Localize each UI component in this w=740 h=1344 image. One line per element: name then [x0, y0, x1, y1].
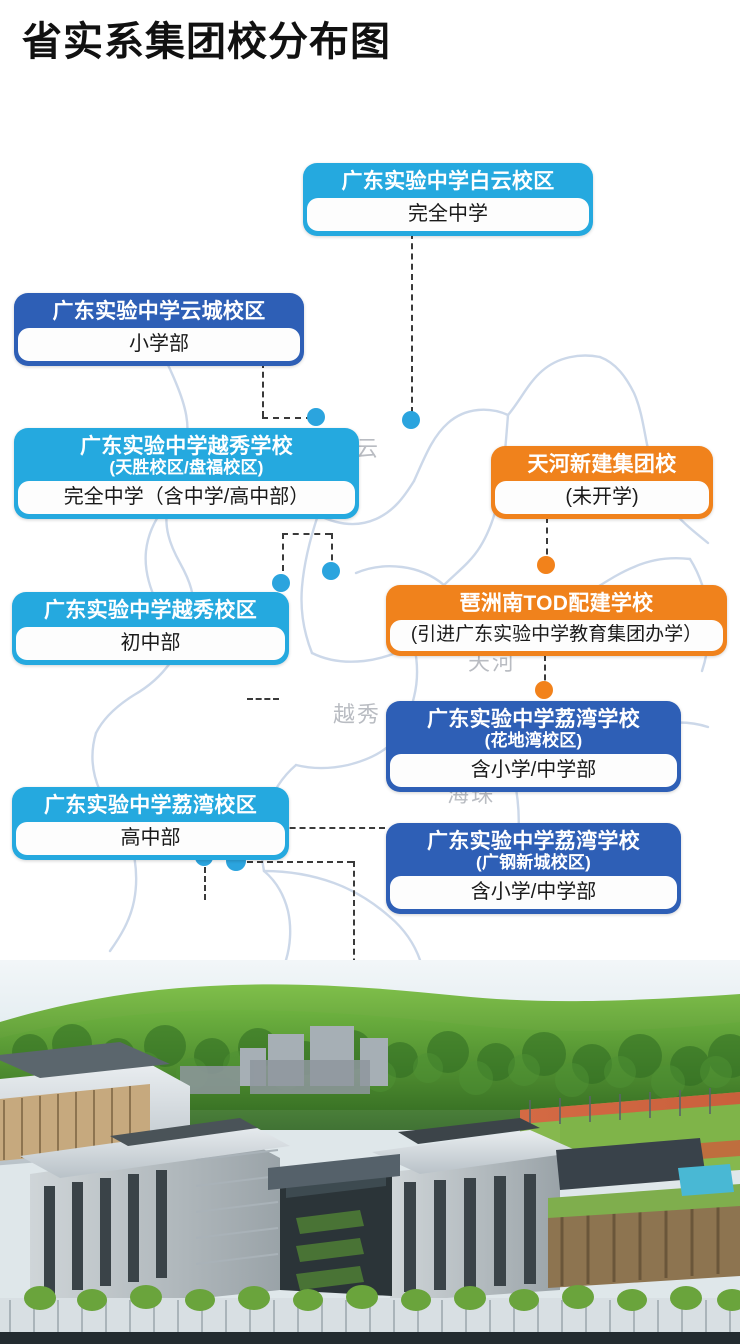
callout-card-liwan-campus[interactable]: 广东实验中学荔湾校区 高中部: [12, 787, 289, 860]
map-marker-yuexiu-campus[interactable]: [272, 574, 290, 592]
callout-card-yuncheng[interactable]: 广东实验中学云城校区 小学部: [14, 293, 304, 366]
callout-title-yuexiu-school: 广东实验中学越秀学校: [28, 435, 345, 459]
callout-detail-pazhou: (引进广东实验中学教育集团办学）: [390, 620, 723, 652]
callout-title-liwan-campus: 广东实验中学荔湾校区: [26, 794, 275, 818]
map-marker-yuncheng[interactable]: [307, 408, 325, 426]
callout-detail-gangang: 含小学/中学部: [390, 876, 677, 909]
callout-card-gangang[interactable]: 广东实验中学荔湾学校 (广钢新城校区) 含小学/中学部: [386, 823, 681, 914]
callout-head-tianhe: 天河新建集团校: [495, 450, 709, 481]
callout-head-pazhou: 琶洲南TOD配建学校: [390, 589, 723, 620]
callout-subtitle-yuexiu-school: (天胜校区/盘福校区): [28, 458, 345, 477]
leader-line-yuexiu-school-horizontal: [282, 533, 331, 535]
callout-head-huadiwan: 广东实验中学荔湾学校 (花地湾校区): [390, 705, 677, 754]
callout-detail-baiyun: 完全中学: [307, 198, 589, 231]
callout-head-yuexiu-campus: 广东实验中学越秀校区: [16, 596, 285, 627]
map-area: 白云 天河 越秀 海珠 荔湾: [0, 115, 740, 960]
callout-detail-yuncheng: 小学部: [18, 328, 300, 361]
callout-detail-huadiwan: 含小学/中学部: [390, 754, 677, 787]
callout-head-baiyun: 广东实验中学白云校区: [307, 167, 589, 198]
callout-detail-liwan-campus: 高中部: [16, 822, 285, 855]
callout-card-yuexiu-school[interactable]: 广东实验中学越秀学校 (天胜校区/盘福校区) 完全中学（含中学/高中部）: [14, 428, 359, 519]
callout-title-huadiwan: 广东实验中学荔湾学校: [400, 708, 667, 732]
page-title: 省实系集团校分布图: [22, 18, 391, 66]
callout-head-yuexiu-school: 广东实验中学越秀学校 (天胜校区/盘福校区): [18, 432, 355, 481]
callout-card-yuexiu-campus[interactable]: 广东实验中学越秀校区 初中部: [12, 592, 289, 665]
callout-title-pazhou: 琶洲南TOD配建学校: [400, 592, 713, 616]
infographic-root: 省实系集团校分布图: [0, 0, 740, 1344]
leader-line-gangang-v: [353, 861, 355, 960]
callout-detail-yuexiu-campus: 初中部: [16, 627, 285, 660]
callout-title-tianhe: 天河新建集团校: [505, 453, 699, 477]
leader-line-yuexiu-school-vertical: [282, 533, 284, 571]
callout-title-yuncheng: 广东实验中学云城校区: [28, 300, 290, 324]
callout-head-gangang: 广东实验中学荔湾学校 (广钢新城校区): [390, 827, 677, 876]
callout-card-tianhe[interactable]: 天河新建集团校 (未开学): [491, 446, 713, 519]
leader-line-yuexiu-campus: [247, 698, 279, 700]
map-marker-baiyun[interactable]: [402, 411, 420, 429]
callout-head-yuncheng: 广东实验中学云城校区: [18, 297, 300, 328]
callout-card-huadiwan[interactable]: 广东实验中学荔湾学校 (花地湾校区) 含小学/中学部: [386, 701, 681, 792]
callout-subtitle-huadiwan: (花地湾校区): [400, 731, 667, 750]
leader-line-gangang-h1: [247, 861, 353, 863]
callout-detail-yuexiu-school: 完全中学（含中学/高中部）: [18, 481, 355, 514]
campus-aerial-photo: [0, 960, 740, 1344]
callout-card-baiyun[interactable]: 广东实验中学白云校区 完全中学: [303, 163, 593, 236]
callout-title-baiyun: 广东实验中学白云校区: [317, 170, 579, 194]
callout-title-gangang: 广东实验中学荔湾学校: [400, 830, 667, 854]
map-marker-tianhe[interactable]: [537, 556, 555, 574]
callout-card-pazhou[interactable]: 琶洲南TOD配建学校 (引进广东实验中学教育集团办学）: [386, 585, 727, 656]
leader-line-baiyun: [411, 233, 413, 413]
callout-head-liwan-campus: 广东实验中学荔湾校区: [16, 791, 285, 822]
callout-subtitle-gangang: (广钢新城校区): [400, 853, 667, 872]
map-marker-pazhou[interactable]: [535, 681, 553, 699]
leader-line-yuncheng-vertical: [262, 362, 264, 417]
district-label-yuexiu: 越秀: [333, 697, 381, 729]
callout-detail-tianhe: (未开学): [495, 481, 709, 514]
map-marker-yuexiu-school[interactable]: [322, 562, 340, 580]
leader-line-yuncheng-horizontal: [262, 417, 312, 419]
callout-title-yuexiu-campus: 广东实验中学越秀校区: [26, 599, 275, 623]
leader-line-liwan-campus: [204, 867, 206, 900]
